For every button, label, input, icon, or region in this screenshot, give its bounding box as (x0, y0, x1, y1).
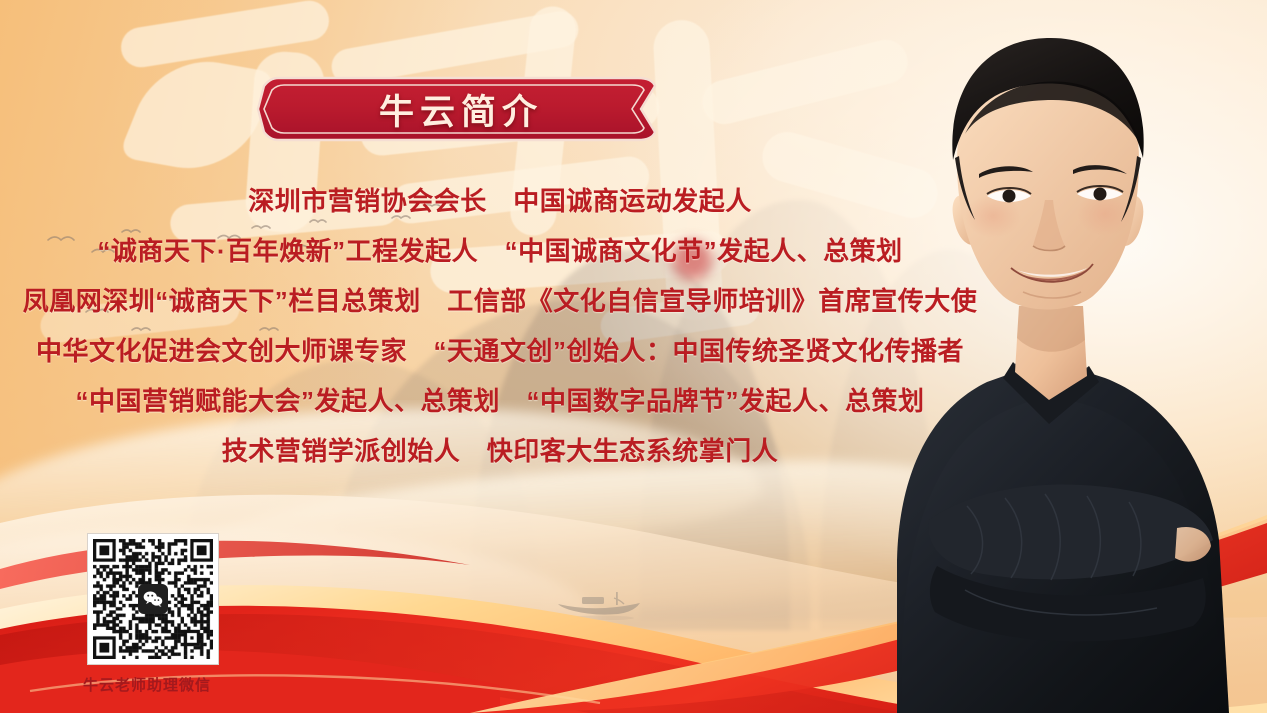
credential-line: “诚商天下·百年焕新”工程发起人 “中国诚商文化节”发起人、总策划 (0, 226, 1000, 276)
credential-line: “中国营销赋能大会”发起人、总策划 “中国数字品牌节”发起人、总策划 (0, 376, 1000, 426)
credentials-list: 深圳市营销协会会长 中国诚商运动发起人 “诚商天下·百年焕新”工程发起人 “中国… (0, 176, 1000, 476)
wechat-icon (138, 584, 168, 614)
credential-line: 技术营销学派创始人 快印客大生态系统掌门人 (0, 426, 1000, 476)
credential-line: 中华文化促进会文创大师课专家 “天通文创”创始人：中国传统圣贤文化传播者 (0, 326, 1000, 376)
qr-caption: 牛云老师助理微信 (75, 674, 219, 695)
qr-code-frame[interactable] (87, 533, 219, 665)
credential-line: 深圳市营销协会会长 中国诚商运动发起人 (0, 176, 1000, 226)
wechat-glyph (142, 588, 164, 610)
wechat-qr-block[interactable]: 牛云老师助理微信 (87, 533, 219, 695)
credential-line: 凤凰网深圳“诚商天下”栏目总策划 工信部《文化自信宣导师培训》首席宣传大使 (0, 276, 1000, 326)
poster-canvas: 牛云简介 深圳市营销协会会长 中国诚商运动发起人 “诚商天下·百年焕新”工程发起… (0, 0, 1267, 713)
banner-title-text: 牛云简介 (256, 74, 660, 144)
title-banner: 牛云简介 (256, 74, 660, 144)
